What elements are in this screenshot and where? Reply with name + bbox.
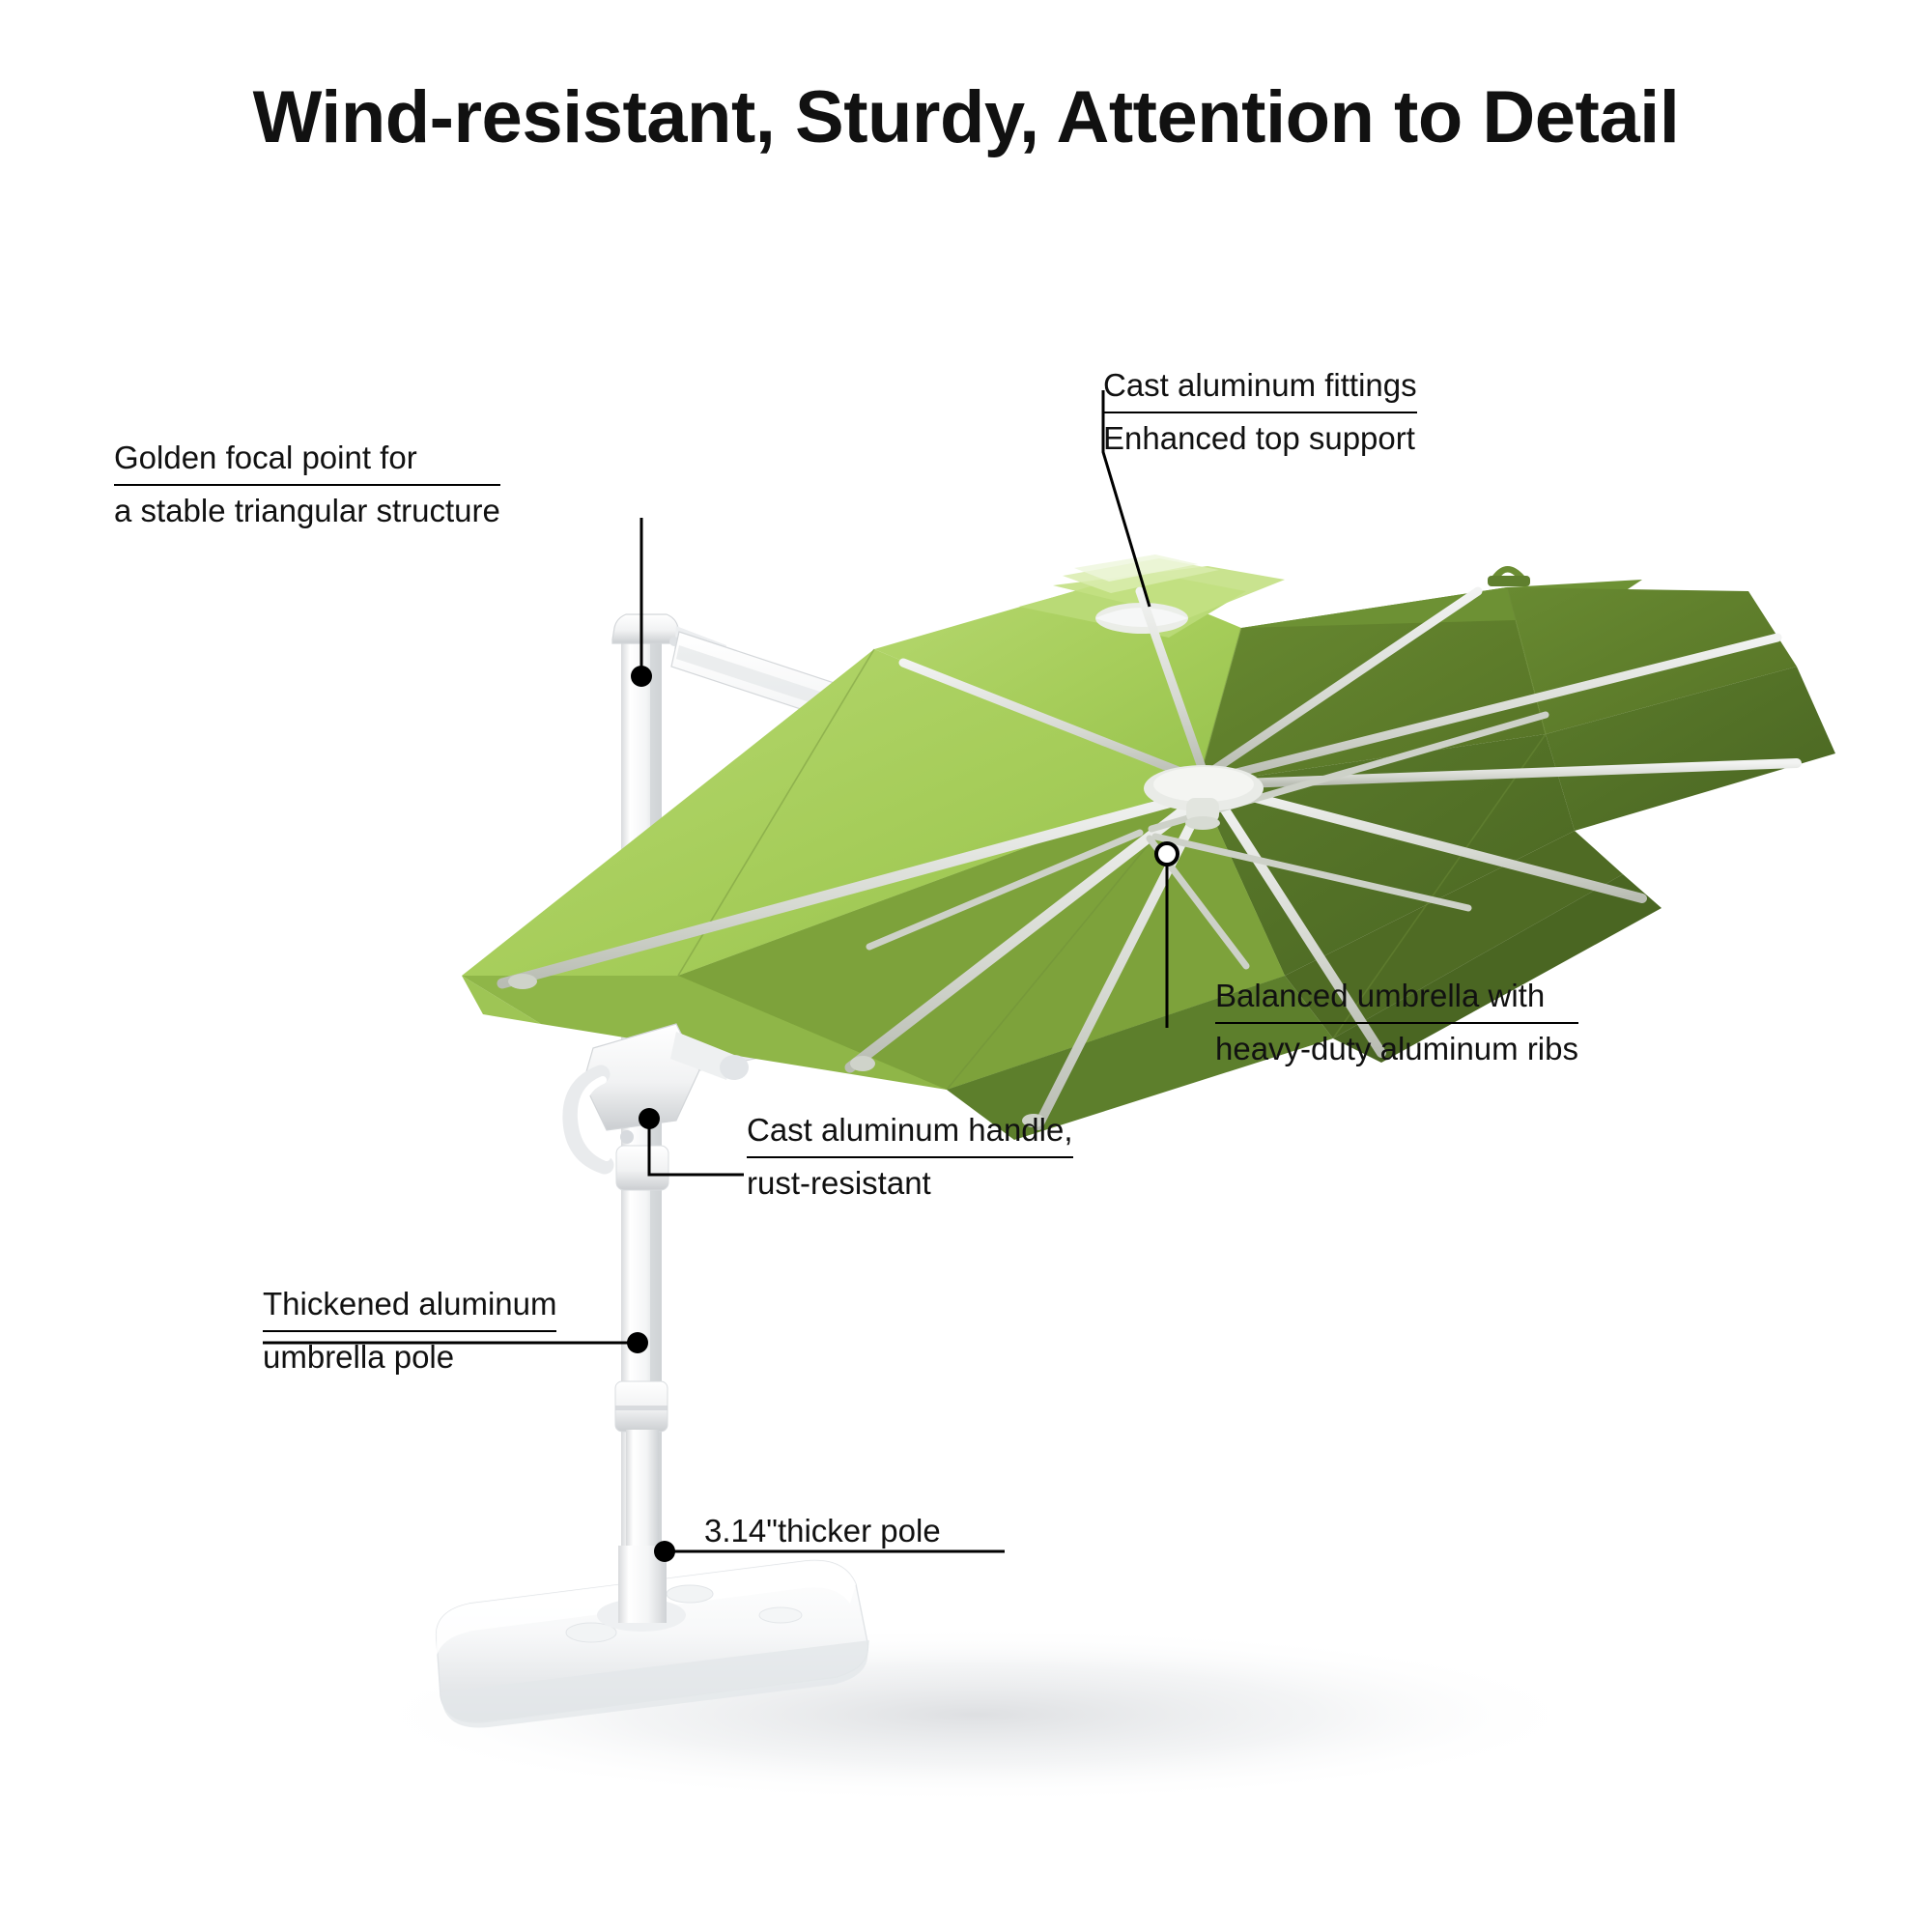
callout-golden-focal-line2: a stable triangular structure [114, 486, 500, 532]
callout-thicker-pole-spec: 3.14"thicker pole [704, 1510, 941, 1552]
callout-thick-pole-line2: umbrella pole [263, 1332, 556, 1378]
callout-cast-fittings-line2: Enhanced top support [1103, 413, 1417, 460]
callout-thicker-pole-spec-line1: 3.14"thicker pole [704, 1510, 941, 1552]
callout-cast-handle-line1: Cast aluminum handle, [747, 1109, 1073, 1158]
callout-golden-focal-point: Golden focal point for a stable triangul… [114, 437, 500, 531]
callout-cast-aluminum-fittings: Cast aluminum fittings Enhanced top supp… [1103, 364, 1417, 459]
callout-balanced-ribs-line1: Balanced umbrella with [1215, 975, 1578, 1024]
callout-golden-focal-line1: Golden focal point for [114, 437, 500, 486]
callout-cast-handle-line2: rust-resistant [747, 1158, 1073, 1205]
callout-balanced-umbrella-ribs: Balanced umbrella with heavy-duty alumin… [1215, 975, 1578, 1069]
callout-cast-aluminum-handle: Cast aluminum handle, rust-resistant [747, 1109, 1073, 1204]
callout-thickened-aluminum-pole: Thickened aluminum umbrella pole [263, 1283, 556, 1378]
callout-balanced-ribs-line2: heavy-duty aluminum ribs [1215, 1024, 1578, 1070]
callout-thick-pole-line1: Thickened aluminum [263, 1283, 556, 1332]
umbrella-illustration [0, 0, 1932, 1932]
callout-cast-fittings-line1: Cast aluminum fittings [1103, 364, 1417, 413]
product-feature-diagram: Wind-resistant, Sturdy, Attention to Det… [0, 0, 1932, 1932]
